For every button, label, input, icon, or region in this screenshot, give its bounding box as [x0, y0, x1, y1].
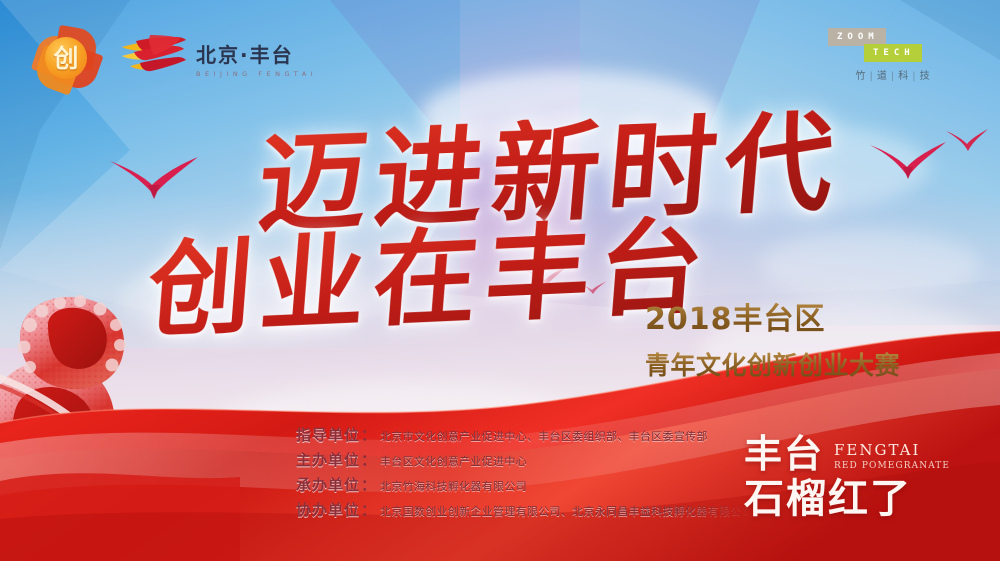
organizer-colon: ： [361, 474, 376, 495]
event-subtitle: 2018丰台区 青年文化创新创业大赛 [645, 294, 900, 382]
organizer-value: 丰台区文化创意产业促进中心 [380, 453, 527, 469]
zoomtech-logo[interactable]: ZOOM TECH 竹|道|科|技 [828, 28, 958, 82]
zt-cn-3: 技 [920, 71, 931, 82]
chuang-character: 创 [53, 46, 78, 71]
zoomtech-tech-row: TECH [828, 46, 958, 62]
organizer-label: 协办单位 [296, 499, 360, 520]
zt-cn-1: 道 [877, 71, 888, 82]
organizer-label: 主办单位 [296, 449, 360, 470]
header-logo-row: 创 北京·丰台 BEIJING FENGTAI [34, 26, 317, 90]
zt-sep: | [891, 71, 895, 82]
organizer-value: 北京竹海科技孵化器有限公司 [380, 478, 527, 494]
fengtai-pomegranate-slogan: 丰台 FENGTAI RED POMEGRANATE 石榴红了 [744, 435, 984, 519]
organizer-label: 承办单位 [296, 474, 360, 495]
beijing-fengtai-logo[interactable]: 北京·丰台 BEIJING FENGTAI [120, 35, 317, 81]
flying-bird-icon [868, 140, 948, 182]
fengtai-en-text: BEIJING FENGTAI [196, 70, 317, 78]
organizer-row: 承办单位 ： 北京竹海科技孵化器有限公司 [296, 474, 766, 495]
slogan-cn-line-2: 石榴红了 [744, 479, 984, 519]
logo-disc: 创 [45, 37, 87, 79]
slogan-cn-line-1: 丰台 [744, 435, 824, 473]
organizer-row: 协办单位 ： 北京国数创业创新企业管理有限公司、北京永同昌丰益科技孵化器有限公司 [296, 499, 766, 520]
subtitle-line-2: 青年文化创新创业大赛 [645, 346, 900, 382]
fengtai-wordmark: 北京·丰台 BEIJING FENGTAI [196, 39, 317, 78]
organizer-value: 北京市文化创意产业促进中心、丰台区委组织部、丰台区委宣传部 [380, 428, 708, 444]
slogan-top-row: 丰台 FENGTAI RED POMEGRANATE [744, 435, 984, 473]
subtitle-line-1: 2018丰台区 [645, 294, 900, 338]
zt-sep: | [869, 71, 873, 82]
zt-cn-2: 科 [898, 71, 909, 82]
organizer-list: 指导单位 ： 北京市文化创意产业促进中心、丰台区委组织部、丰台区委宣传部 主办单… [296, 424, 766, 524]
organizer-colon: ： [361, 499, 376, 520]
organizer-value: 北京国数创业创新企业管理有限公司、北京永同昌丰益科技孵化器有限公司 [380, 503, 753, 519]
chuang-brand-logo[interactable]: 创 [34, 26, 98, 90]
slogan-en-line-2: RED POMEGRANATE [834, 460, 950, 473]
organizer-label: 指导单位 [296, 424, 360, 445]
fengtai-wave-mark-icon [120, 35, 186, 81]
organizer-row: 指导单位 ： 北京市文化创意产业促进中心、丰台区委组织部、丰台区委宣传部 [296, 424, 766, 445]
zt-cn-0: 竹 [855, 71, 866, 82]
organizer-colon: ： [361, 424, 376, 445]
slogan-en-line-1: FENGTAI [834, 441, 950, 460]
zoomtech-cn-label: 竹|道|科|技 [828, 67, 958, 82]
organizer-colon: ： [361, 449, 376, 470]
slogan-en-block: FENGTAI RED POMEGRANATE [834, 441, 950, 472]
organizer-row: 主办单位 ： 丰台区文化创意产业促进中心 [296, 449, 766, 470]
fengtai-cn-text: 北京·丰台 [196, 39, 317, 68]
zt-sep: | [912, 71, 916, 82]
zoomtech-tech-label: TECH [864, 44, 922, 62]
flying-bird-icon [945, 128, 989, 154]
poster-canvas: 创 北京·丰台 BEIJING FENGTAI [0, 0, 1000, 561]
